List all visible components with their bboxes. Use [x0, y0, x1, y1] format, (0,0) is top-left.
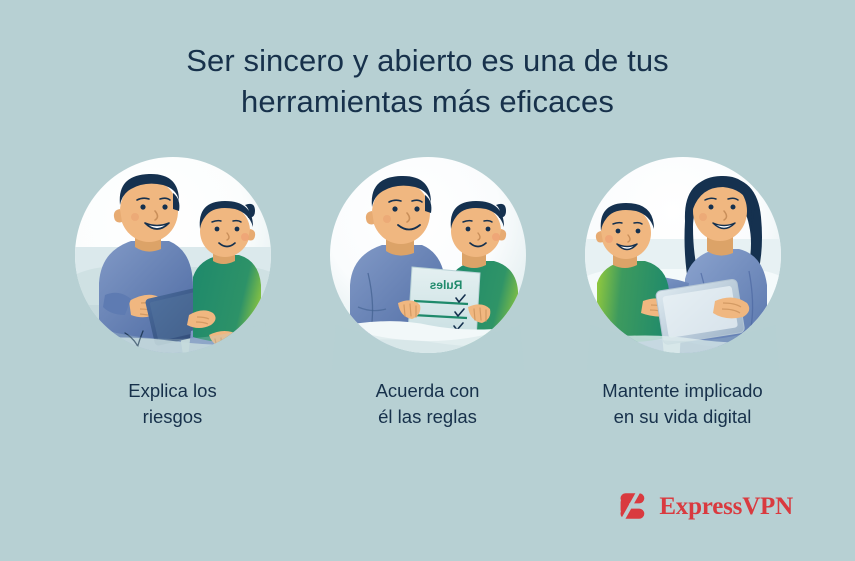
expressvpn-wordmark: ExpressVPN: [659, 494, 793, 519]
illustration-father-and-son-with-tablet: [73, 155, 273, 370]
panel-caption: Acuerda con él las reglas: [376, 378, 480, 430]
panel-acuerda-las-reglas: Rules: [300, 155, 555, 430]
panels-row: Explica los riesgos: [0, 155, 855, 445]
illustration-mother-and-son-with-tablet: [583, 155, 783, 370]
panel-caption: Mantente implicado en su vida digital: [602, 378, 762, 430]
expressvpn-e-mark: [616, 489, 650, 523]
illustration-father-and-son-holding-rules-paper: Rules: [328, 155, 528, 370]
title-line-1: Ser sincero y abierto es una de tus: [0, 40, 855, 81]
infographic-canvas: Ser sincero y abierto es una de tus herr…: [0, 0, 855, 561]
panel-caption: Explica los riesgos: [128, 378, 216, 430]
title-line-2: herramientas más eficaces: [0, 81, 855, 122]
page-title: Ser sincero y abierto es una de tus herr…: [0, 40, 855, 122]
panel-mantente-implicado: Mantente implicado en su vida digital: [555, 155, 810, 430]
svg-text:Rules: Rules: [429, 278, 462, 292]
panel-explica-los-riesgos: Explica los riesgos: [45, 155, 300, 430]
expressvpn-logo[interactable]: ExpressVPN: [616, 489, 793, 523]
